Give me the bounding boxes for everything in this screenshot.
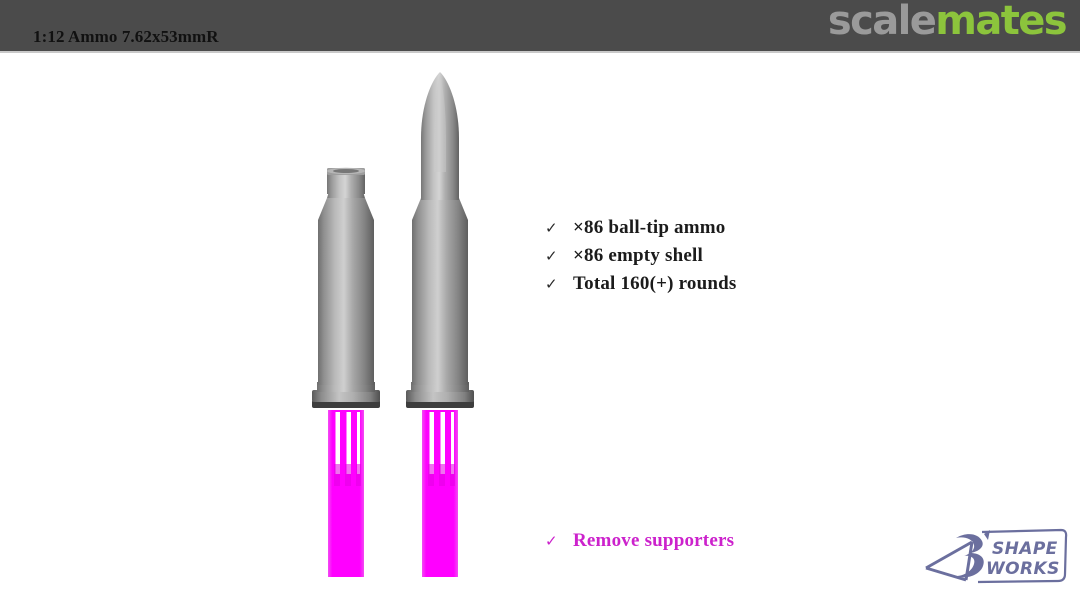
empty-shell-model bbox=[312, 168, 380, 577]
list-item-label: Total 160(+) rounds bbox=[573, 273, 737, 295]
check-icon: ✓ bbox=[545, 532, 573, 550]
parts-checklist: ✓ ×86 ball-tip ammo ✓ ×86 empty shell ✓ … bbox=[545, 217, 737, 301]
slide-canvas: 1:12 Ammo 7.62x53mmR scalemates bbox=[0, 0, 1080, 608]
check-icon: ✓ bbox=[545, 247, 573, 265]
logo-line2: WORKS bbox=[986, 559, 1060, 579]
scalemates-logo: scalemates bbox=[828, 0, 1066, 44]
note-label: Remove supporters bbox=[573, 530, 734, 552]
page-title: 1:12 Ammo 7.62x53mmR bbox=[33, 27, 219, 47]
list-item: ✓ Total 160(+) rounds bbox=[545, 273, 737, 295]
check-icon: ✓ bbox=[545, 219, 573, 237]
list-item: ✓ ×86 empty shell bbox=[545, 245, 737, 267]
logo-line1: SHAPE bbox=[992, 539, 1058, 559]
list-item-label: ×86 ball-tip ammo bbox=[573, 217, 726, 239]
ball-tip-cartridge-model bbox=[406, 72, 474, 577]
model-render-group bbox=[290, 60, 510, 590]
check-icon: ✓ bbox=[545, 275, 573, 293]
jb-shape-works-logo: SHAPE WORKS bbox=[920, 524, 1070, 596]
brand-text-scale: scale bbox=[828, 0, 935, 44]
brand-text-mates: mates bbox=[935, 0, 1066, 44]
remove-supporters-note: ✓ Remove supporters bbox=[545, 530, 734, 552]
list-item: ✓ ×86 ball-tip ammo bbox=[545, 217, 737, 239]
list-item-label: ×86 empty shell bbox=[573, 245, 703, 267]
